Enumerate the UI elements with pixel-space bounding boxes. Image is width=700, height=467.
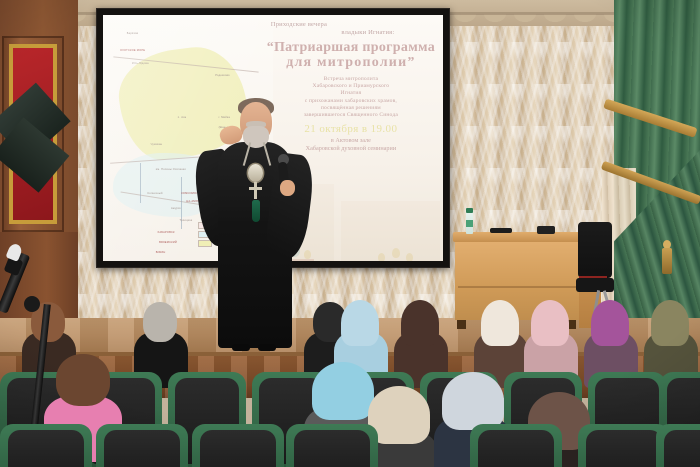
pectoral-cross-horizontal (249, 187, 262, 190)
panagia-medallion (248, 164, 263, 182)
bishop-right-hand (280, 180, 295, 196)
auditorium-seat-back-foreground[interactable] (664, 430, 700, 467)
slide-title-line-2: для митрополии” (265, 55, 437, 70)
chair-seat (576, 278, 614, 292)
auditorium-seat-back-foreground[interactable] (478, 430, 554, 467)
water-bottle-label (466, 220, 473, 227)
auditorium-seat-back-foreground[interactable] (586, 430, 662, 467)
map-label: им. Полины Осипенко (156, 168, 186, 171)
auditorium-seat-back-foreground[interactable] (294, 430, 370, 467)
gold-tassel (662, 248, 672, 274)
icon-gold-border (9, 44, 57, 224)
auditorium-seat-back-foreground[interactable] (104, 430, 180, 467)
headscarf (442, 372, 504, 430)
slide-title-line-1: “Патриаршая программа (267, 40, 435, 55)
slide-kicker-line-2: владыки Игнатия: (265, 29, 437, 36)
bishop-shoe-left (232, 344, 250, 351)
table-microphone (490, 228, 512, 233)
icon-red-field (13, 48, 53, 220)
headscarf (531, 300, 569, 346)
head (56, 354, 110, 406)
speaker-bishop (196, 96, 316, 348)
auditorium-photo: БерёзовОХОТСКОЕ МОРЕУсть-ЮдомаРодниковоп… (0, 0, 700, 467)
pectoral-cross-vertical (254, 182, 257, 199)
auditorium-seat-back-foreground[interactable] (8, 430, 84, 467)
green-tassel (252, 200, 260, 222)
table-device (537, 226, 555, 234)
headscarf (401, 300, 439, 346)
slide-subtitle-line: Хабаровского и Приамурского (265, 83, 437, 90)
headscarf (341, 300, 379, 346)
map-label: Родниково (215, 74, 230, 77)
map-label: Чумикан (151, 143, 163, 146)
chair-backrest (578, 222, 612, 278)
auditorium-seat-back-foreground[interactable] (200, 430, 276, 467)
slide-title: “Патриаршая программа для митрополии” (265, 40, 437, 70)
headscarf (651, 300, 689, 346)
table-leg (457, 320, 466, 329)
map-label: п. Аян (178, 116, 187, 119)
water-bottle-cap (466, 208, 473, 213)
headscarf (591, 300, 629, 346)
head (143, 302, 177, 342)
mic-stand-joint (24, 296, 40, 312)
map-label: ОХОТСКОЕ МОРЕ (120, 49, 145, 52)
map-label: Берёзов (127, 32, 138, 35)
map-label: Усть-Юдома (132, 62, 149, 65)
slide-kicker-line-1: Приходские вечера (265, 21, 437, 28)
headscarf (481, 300, 519, 346)
framed-icon-banner (2, 36, 64, 232)
bishop-shoe-right (258, 344, 276, 351)
